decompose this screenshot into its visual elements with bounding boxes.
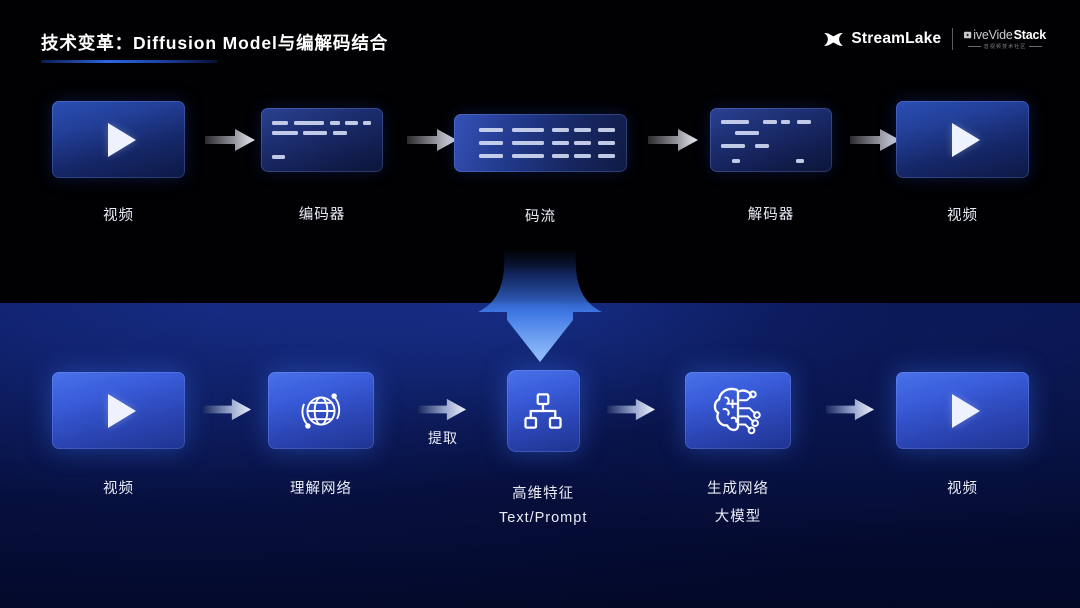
livevideostack-suffix: Stack [1014,28,1046,42]
bitstream-bars-icon [454,114,627,172]
streamlake-mark-icon [823,32,844,47]
code-lines-icon [261,108,383,172]
streamlake-logo: StreamLake [823,30,941,48]
livevideostack-logo: iveVide Stack 音视频技术社区 [964,28,1046,50]
bottom-node-high-dim-feature: 高维特征 Text/Prompt [499,370,587,526]
arrow-icon [205,126,257,154]
bottom-node-high-dim-feature-caption: 高维特征 [512,482,574,503]
logo-sub-rule-right [1029,46,1042,47]
arrow-icon [648,126,700,154]
logo-group: StreamLake iveVide Stack 音视频技术社区 [823,28,1046,50]
high-dim-feature-box [507,370,580,452]
bottom-node-video-out-caption: 视频 [947,477,978,498]
arrow-icon [418,396,468,423]
video-thumbnail-box [896,372,1029,449]
play-icon [964,31,972,39]
video-thumbnail-box [896,101,1029,178]
page-title: 技术变革：Diffusion Model与编解码结合 [41,30,388,55]
title-underline [41,60,218,63]
globe-network-icon [292,382,350,440]
slide-root: 技术变革：Diffusion Model与编解码结合 StreamLake iv… [0,0,1080,608]
top-node-decoder: 解码器 [710,108,832,224]
bottom-node-generation-network-caption2: 大模型 [715,505,762,526]
play-icon [952,394,980,428]
extract-arrow-label: 提取 [418,428,468,448]
bottom-node-understanding-network-caption: 理解网络 [290,477,352,498]
livevideostack-prefix: iveVide [973,28,1012,42]
top-node-video-out-caption: 视频 [947,204,978,225]
top-node-bitstream: 码流 [454,114,627,226]
top-node-video-in: 视频 [52,101,185,225]
streamlake-logo-text: StreamLake [851,30,941,48]
understanding-network-box [268,372,374,449]
bottom-node-video-out: 视频 [896,372,1029,498]
hierarchy-tree-icon [522,390,564,432]
down-arrow-icon [460,250,620,370]
logo-divider [952,28,953,50]
top-node-decoder-caption: 解码器 [748,203,795,224]
top-node-bitstream-caption: 码流 [525,205,556,226]
video-thumbnail-box [52,101,185,178]
arrow-icon [407,126,459,154]
livevideostack-subtitle: 音视频技术社区 [984,43,1027,50]
bottom-node-high-dim-feature-caption2: Text/Prompt [499,510,587,526]
decoder-box [710,108,832,172]
play-icon [952,123,980,157]
arrow-icon [607,396,657,423]
top-node-video-in-caption: 视频 [103,204,134,225]
slide-header: 技术变革：Diffusion Model与编解码结合 StreamLake iv… [0,0,1080,86]
generation-network-box [685,372,791,449]
top-node-video-out: 视频 [896,101,1029,225]
bottom-node-video-in: 视频 [52,372,185,498]
top-node-encoder-caption: 编码器 [299,203,346,224]
bottom-node-video-in-caption: 视频 [103,477,134,498]
encoder-box [261,108,383,172]
top-node-encoder: 编码器 [261,108,383,224]
logo-sub-rule-left [968,46,981,47]
bitstream-box [454,114,627,172]
play-icon [108,394,136,428]
bottom-node-generation-network-caption: 生成网络 [707,477,769,498]
arrow-icon [850,126,902,154]
arrow-icon [203,396,253,423]
code-lines-icon [710,108,832,172]
video-thumbnail-box [52,372,185,449]
bottom-node-understanding-network: 理解网络 [268,372,374,498]
ai-brain-icon [709,384,767,438]
play-icon [108,123,136,157]
bottom-node-generation-network: 生成网络 大模型 [685,372,791,526]
arrow-icon [826,396,876,423]
